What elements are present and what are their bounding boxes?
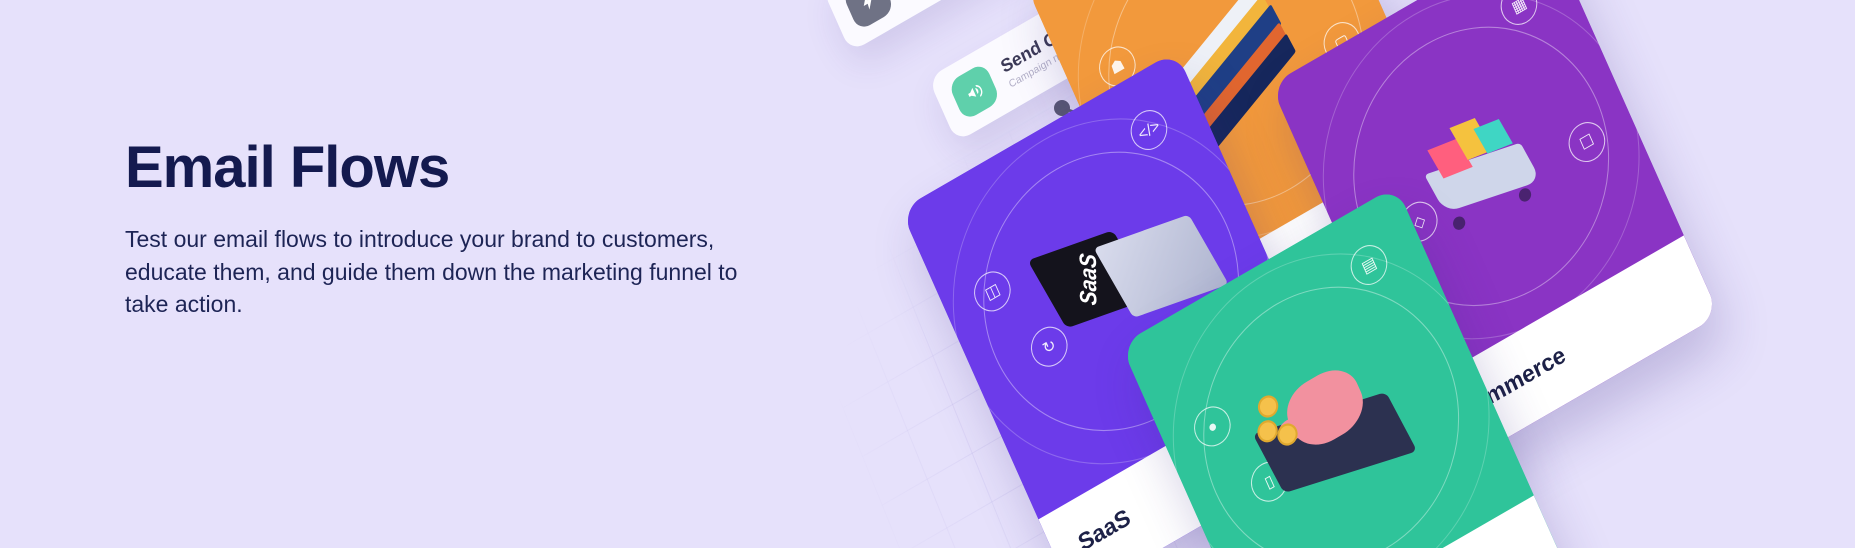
hero-banner: Email Flows Test our email flows to intr… [0,0,1855,548]
megaphone-icon [948,62,1002,122]
hero-description: Test our email flows to introduce your b… [125,223,765,321]
saas-logo-text: SaaS [1076,252,1104,306]
flow-illustration: Trigger Specific Contacts Send Campaign … [800,0,1855,548]
hero-copy: Email Flows Test our email flows to intr… [125,138,785,321]
page-title: Email Flows [125,138,785,199]
category-name: SaaS [1074,503,1135,548]
lightning-bolt-icon [842,0,896,31]
